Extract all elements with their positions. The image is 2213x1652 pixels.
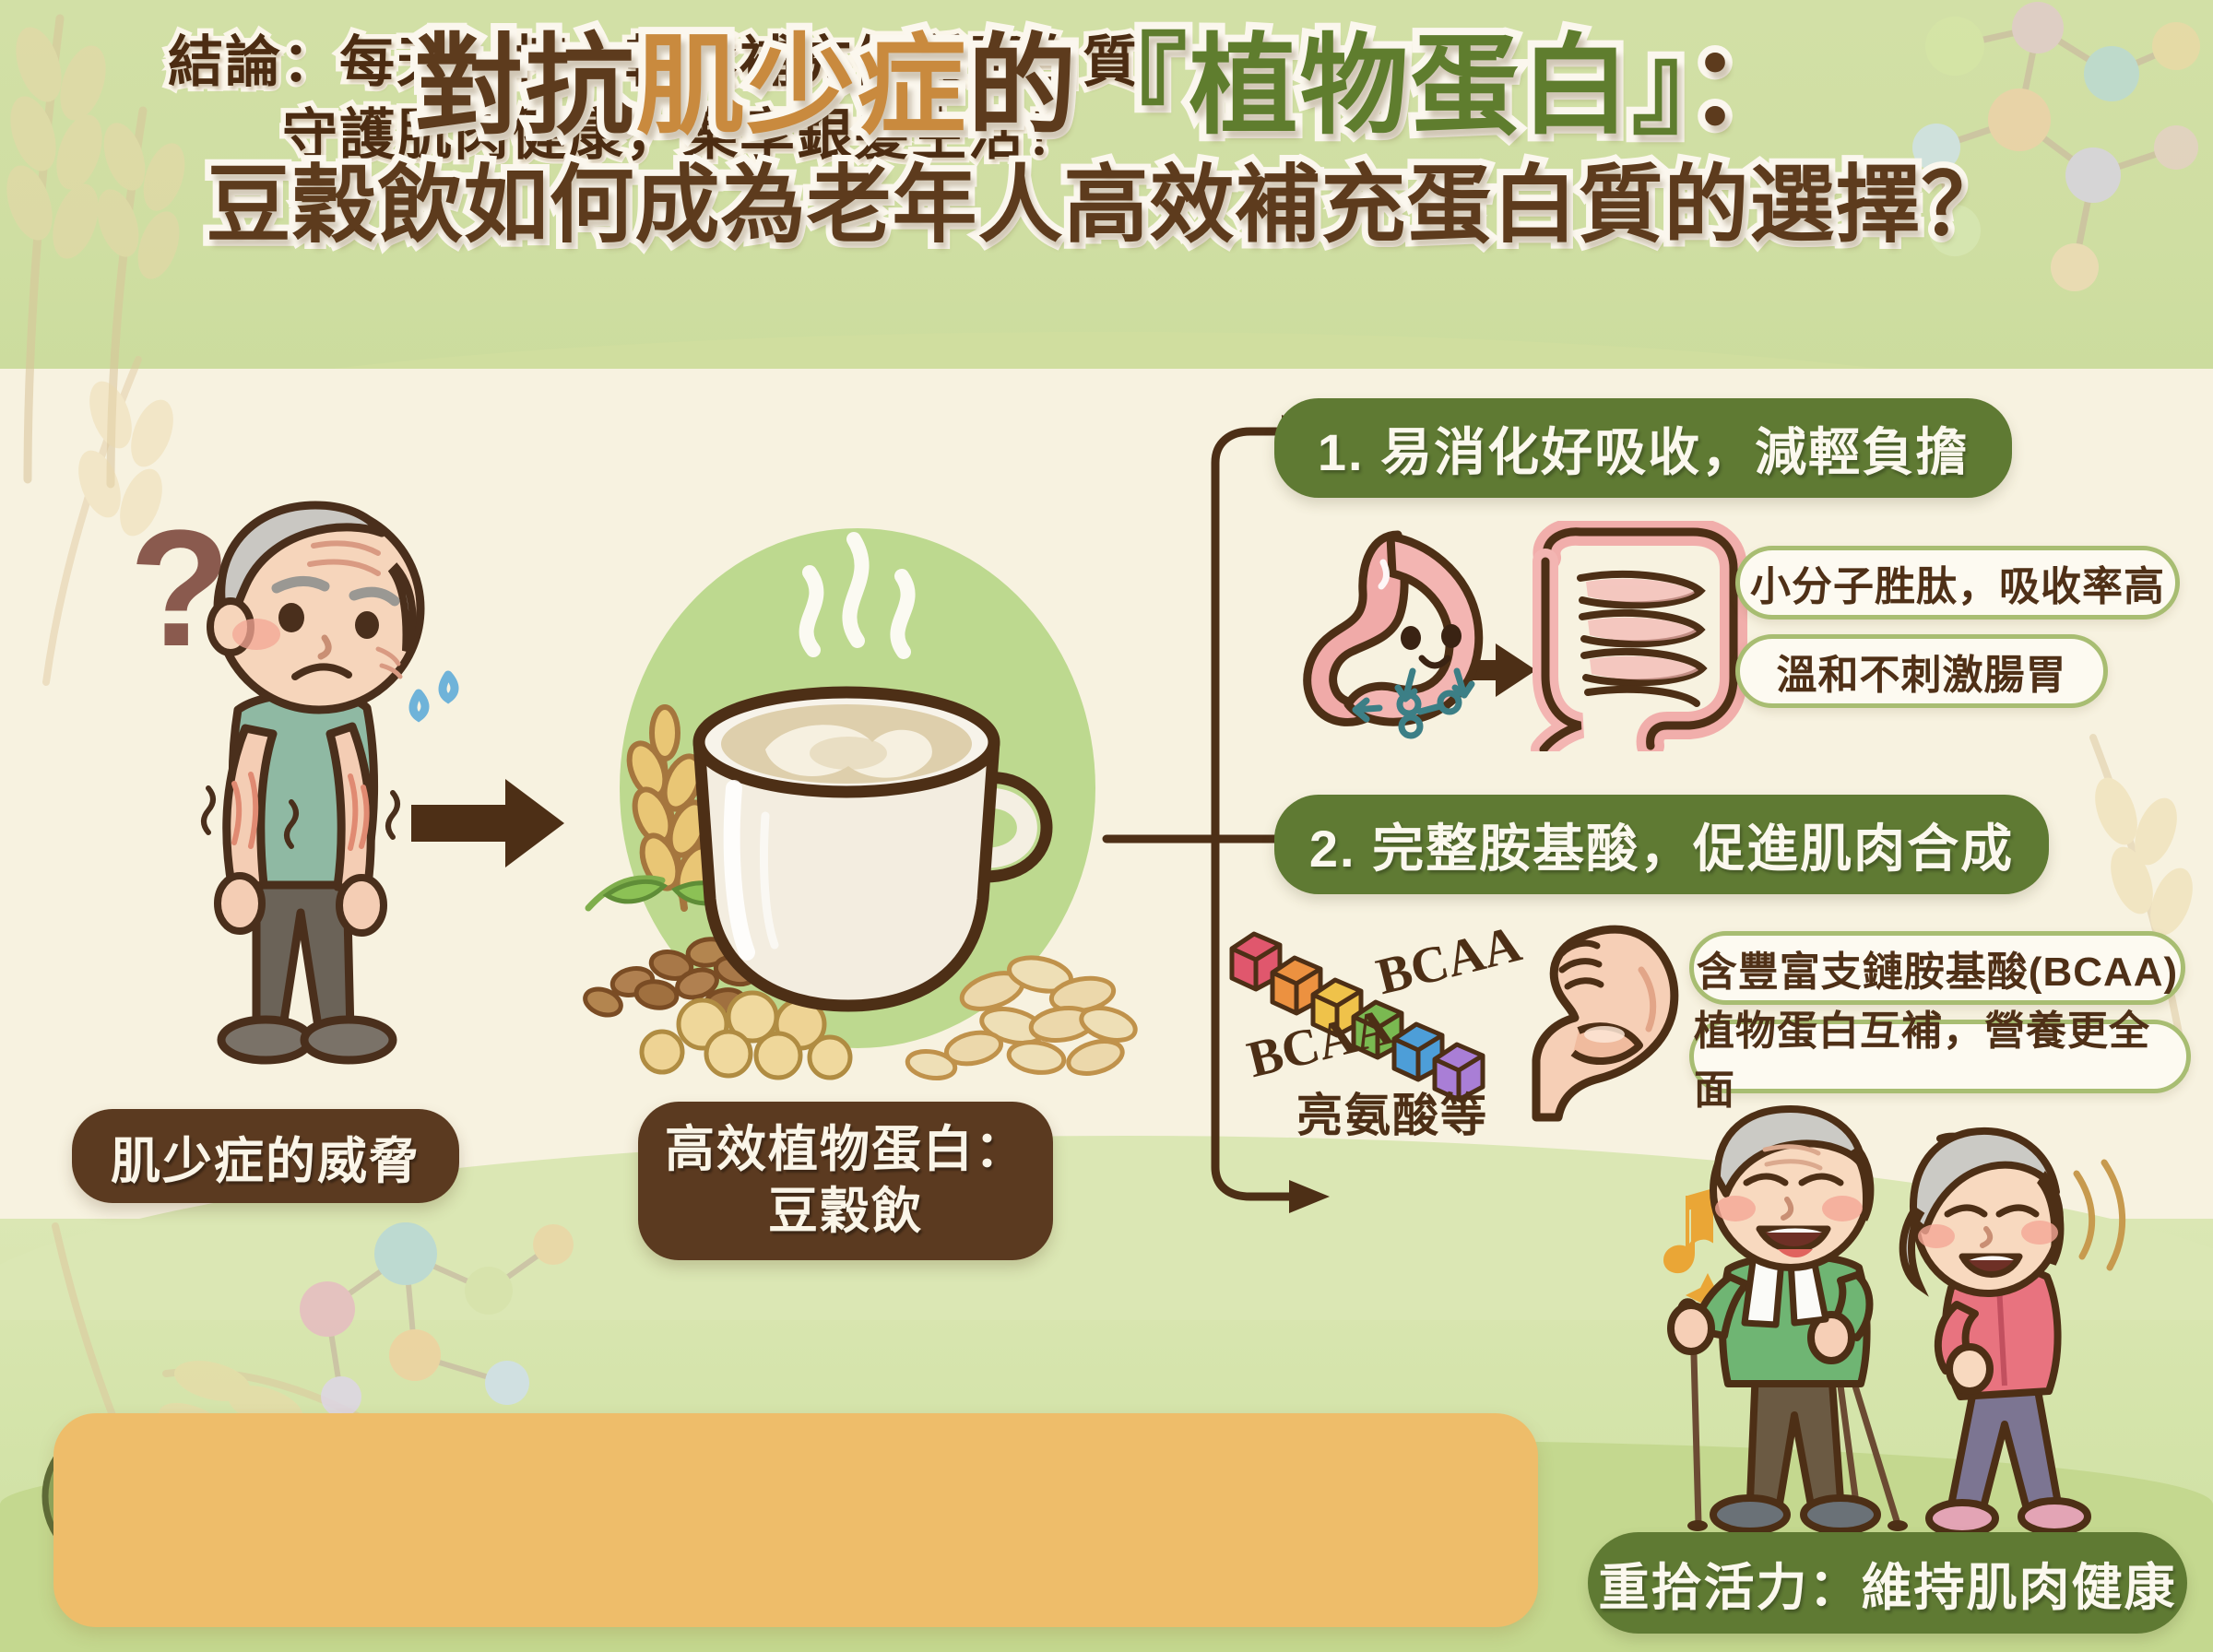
title-line-2: 豆穀飲如何成為老年人高效補充蛋白質的選擇？ [0, 155, 2213, 256]
bcaa-caption: 亮氨酸等 [1296, 1079, 1488, 1145]
chip-1-1: 小分子胜肽，吸收率高 [1735, 546, 2180, 619]
chip-1-2: 溫和不刺激腸胃 [1735, 634, 2108, 708]
grain-drink-cup-illustration [544, 512, 1171, 1083]
conclusion-bar [53, 1413, 1538, 1627]
title-seg-1: 對抗 [414, 26, 635, 147]
title-seg-2: 肌少症 [635, 26, 967, 147]
title-seg-5: ： [1688, 26, 1799, 147]
section-2-banner: 2. 完整胺基酸，促進肌肉合成 [1274, 795, 2049, 894]
chip-2-1: 含豐富支鏈胺基酸(BCAA) [1689, 931, 2185, 1005]
chip-2-2: 植物蛋白互補，營養更全面 [1689, 1020, 2191, 1093]
active-elderly-couple-illustration [1632, 1092, 2148, 1553]
product-label-line1: 高效植物蛋白： [665, 1119, 1026, 1182]
product-label-line2: 豆穀飲 [768, 1181, 923, 1244]
music-note-icon [1665, 1188, 1713, 1271]
title-line-1: 對抗肌少症的『植物蛋白』： [0, 26, 2213, 147]
title-seg-3: 的 [967, 26, 1078, 147]
intestine-icon [1520, 521, 1759, 751]
title-seg-4: 『植物蛋白』 [1079, 26, 1688, 147]
weak-elderly-man-illustration: ? [120, 479, 553, 1106]
product-label: 高效植物蛋白： 豆穀飲 [638, 1102, 1053, 1260]
page-title: 對抗肌少症的『植物蛋白』： 豆穀飲如何成為老年人高效補充蛋白質的選擇？ [0, 26, 2213, 257]
threat-label: 肌少症的威脅 [72, 1109, 459, 1203]
stomach-icon [1243, 527, 1547, 749]
vitality-label: 重拾活力：維持肌肉健康 [1588, 1532, 2187, 1634]
question-mark-icon: ? [129, 496, 231, 681]
section-1-banner: 1. 易消化好吸收，減輕負擔 [1274, 398, 2012, 498]
infographic-canvas: 對抗肌少症的『植物蛋白』： 豆穀飲如何成為老年人高效補充蛋白質的選擇？ ? [0, 0, 2213, 1652]
svg-text:?: ? [129, 496, 231, 681]
